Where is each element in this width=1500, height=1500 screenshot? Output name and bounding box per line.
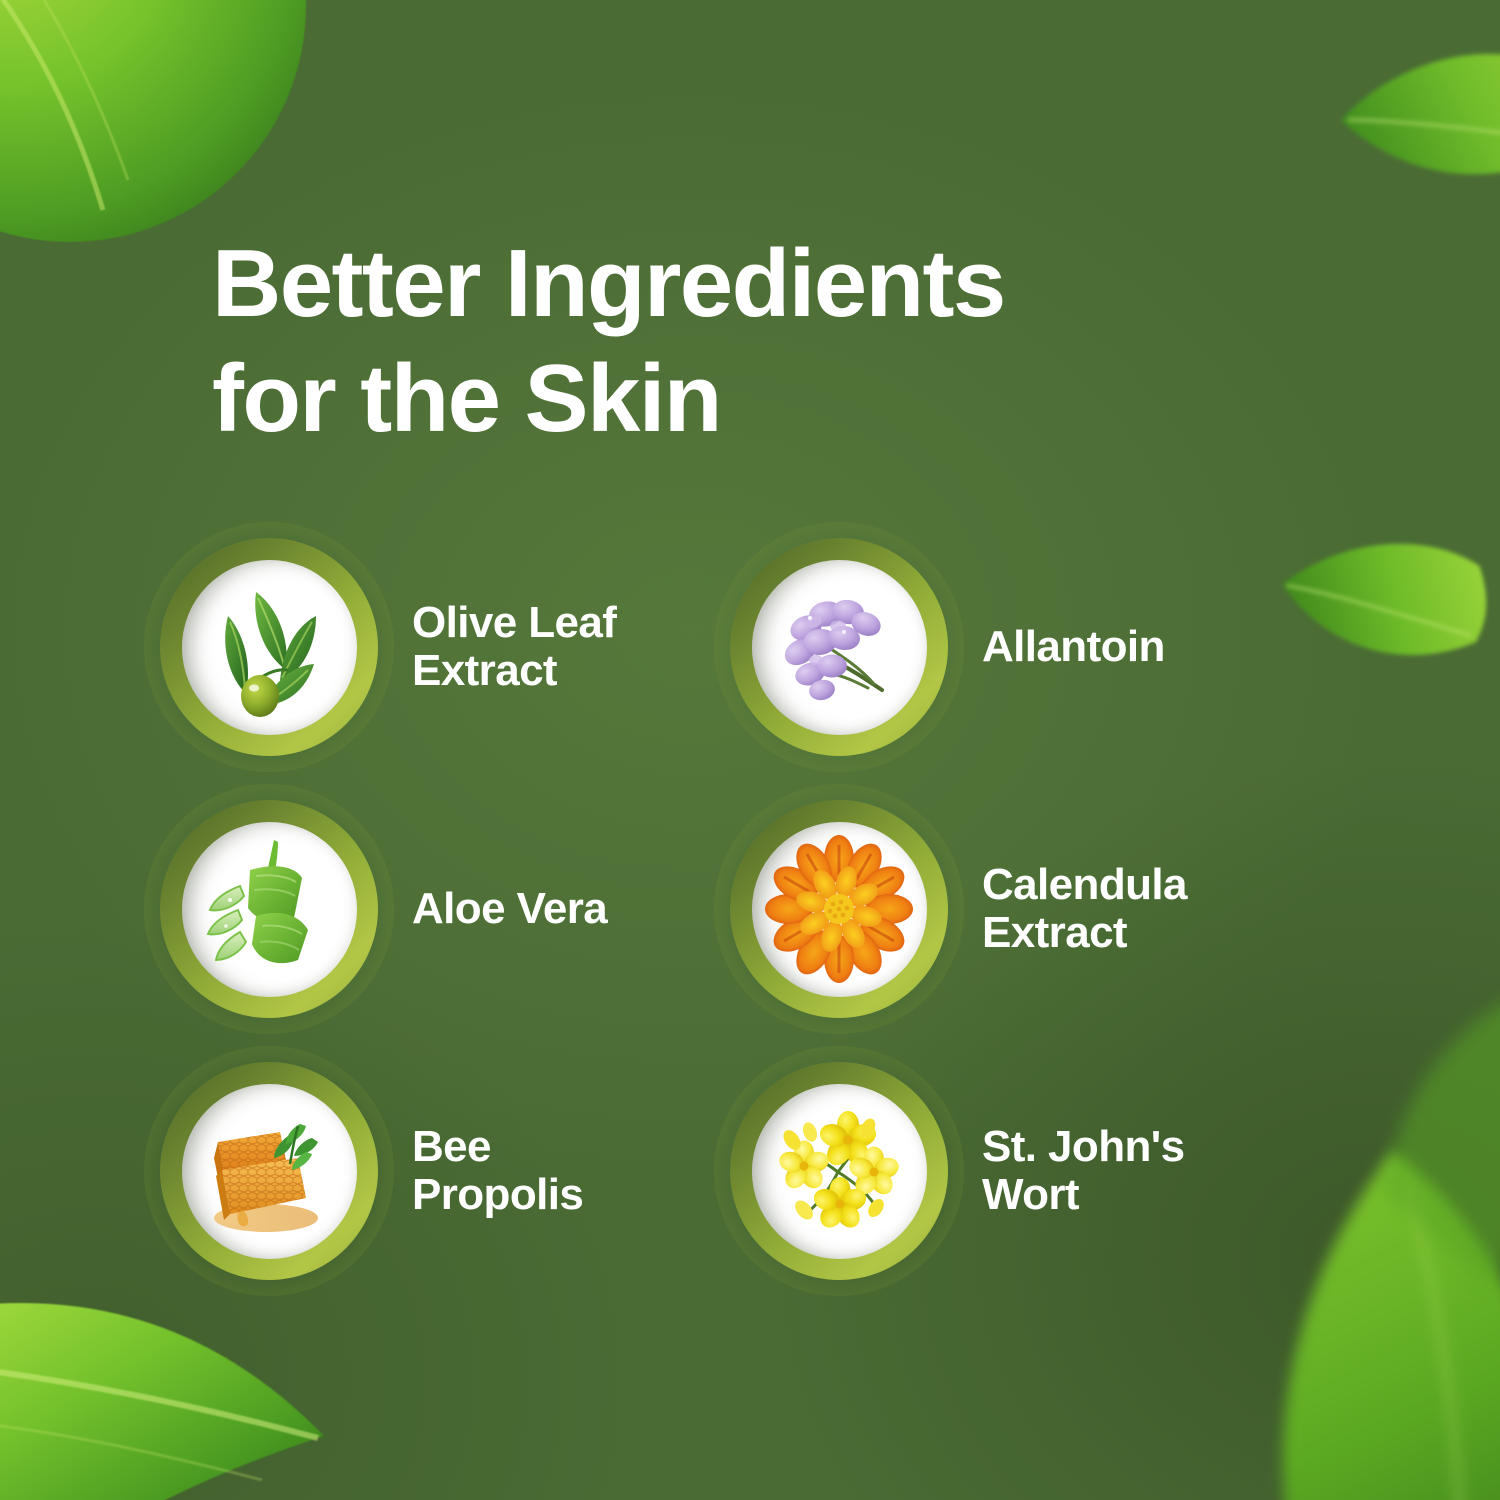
- ingredient-item: St. John's Wort: [730, 1062, 1300, 1280]
- ingredient-label: Aloe Vera: [412, 885, 607, 933]
- ingredient-label: Olive Leaf Extract: [412, 599, 616, 696]
- ingredient-badge: [160, 800, 378, 1018]
- ingredient-image: [752, 822, 927, 997]
- ingredient-item: Allantoin: [730, 538, 1300, 756]
- olive-branch-icon: [194, 572, 344, 722]
- ingredient-label: St. John's Wort: [982, 1123, 1185, 1220]
- ingredient-grid: Olive Leaf Extract: [160, 538, 1340, 1280]
- leaf-bottom-right-small-icon: [1339, 973, 1500, 1292]
- ingredient-badge: [730, 800, 948, 1018]
- ingredient-badge: [730, 1062, 948, 1280]
- aloe-vera-icon: [194, 834, 344, 984]
- ingredient-image: [182, 822, 357, 997]
- ingredient-image: [752, 560, 927, 735]
- page-title: Better Ingredients for the Skin: [212, 226, 1212, 456]
- leaf-top-right-icon: [1302, 0, 1500, 260]
- honeycomb-icon: [194, 1096, 344, 1246]
- ingredient-image: [752, 1084, 927, 1259]
- marigold-flower-icon: [764, 834, 914, 984]
- ingredient-image: [182, 1084, 357, 1259]
- ingredient-item: Calendula Extract: [730, 800, 1300, 1018]
- leaf-bottom-left-icon: [0, 1268, 362, 1500]
- ingredients-poster: Better Ingredients for the Skin: [0, 0, 1500, 1500]
- ingredient-label: Allantoin: [982, 623, 1165, 671]
- comfrey-flower-icon: [764, 572, 914, 722]
- ingredient-badge: [160, 1062, 378, 1280]
- ingredient-item: Bee Propolis: [160, 1062, 730, 1280]
- ingredient-item: Olive Leaf Extract: [160, 538, 730, 756]
- st-johns-wort-icon: [764, 1096, 914, 1246]
- ingredient-badge: [160, 538, 378, 756]
- ingredient-image: [182, 560, 357, 735]
- ingredient-label: Calendula Extract: [982, 861, 1187, 958]
- ingredient-badge: [730, 538, 948, 756]
- ingredient-item: Aloe Vera: [160, 800, 730, 1018]
- ingredient-label: Bee Propolis: [412, 1123, 583, 1220]
